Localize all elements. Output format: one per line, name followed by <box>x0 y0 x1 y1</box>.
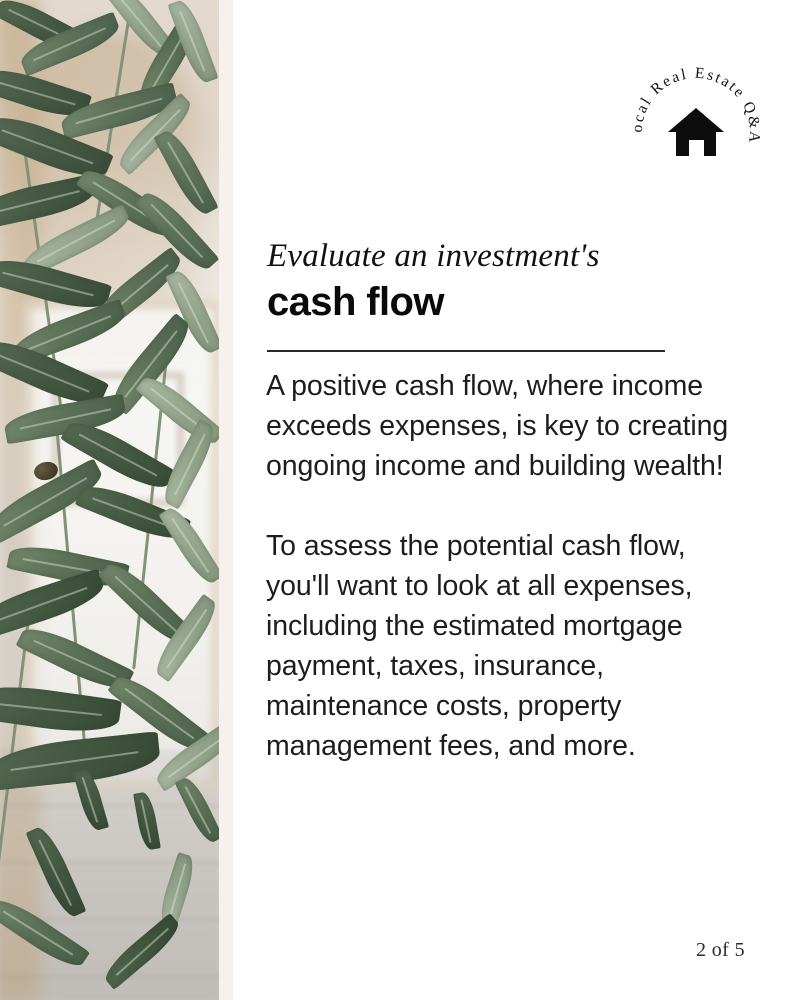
content-panel: Local Real Estate Q&A Evaluate an invest… <box>233 0 800 1000</box>
body-copy: A positive cash flow, where income excee… <box>266 366 748 766</box>
house-icon <box>668 108 724 156</box>
body-paragraph-2: To assess the potential cash flow, you'l… <box>266 526 748 766</box>
slide-canvas: Local Real Estate Q&A Evaluate an invest… <box>0 0 800 1000</box>
headline-eyebrow: Evaluate an investment's <box>267 238 767 275</box>
headline-block: Evaluate an investment's cash flow <box>267 238 767 325</box>
headline-main: cash flow <box>267 279 767 325</box>
page-indicator: 2 of 5 <box>696 939 745 962</box>
brand-badge: Local Real Estate Q&A <box>628 64 764 200</box>
plant-photo <box>0 0 219 1000</box>
separator-strip <box>219 0 233 1000</box>
photo-color-tint <box>0 0 219 1000</box>
headline-divider <box>267 350 665 352</box>
body-paragraph-1: A positive cash flow, where income excee… <box>266 366 748 486</box>
